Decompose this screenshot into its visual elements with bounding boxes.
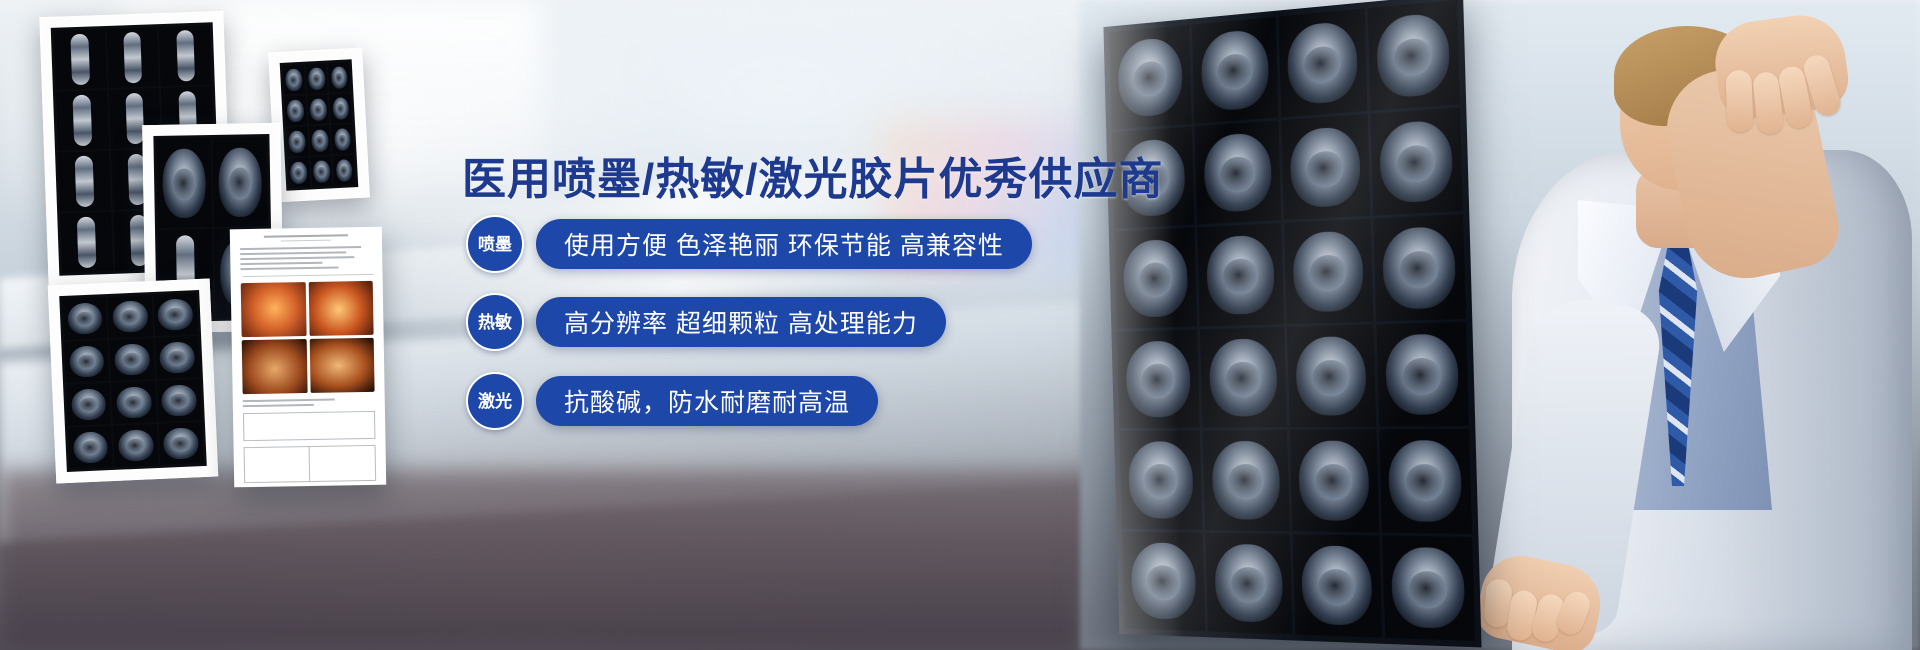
badge-laser: 激光 (466, 372, 524, 430)
feature-row-thermal: 热敏 高分辨率 超细颗粒 高处理能力 (466, 293, 946, 351)
page-title: 医用喷墨/热敏/激光胶片优秀供应商 (462, 143, 1163, 207)
badge-thermal: 热敏 (466, 293, 524, 351)
badge-inkjet: 喷墨 (466, 215, 524, 273)
banner-content: 医用喷墨/热敏/激光胶片优秀供应商 喷墨 使用方便 色泽艳丽 环保节能 高兼容性… (0, 0, 1920, 650)
feature-text-thermal: 高分辨率 超细颗粒 高处理能力 (536, 297, 946, 347)
feature-text-laser: 抗酸碱，防水耐磨耐高温 (536, 376, 878, 426)
hero-banner: 医用喷墨/热敏/激光胶片优秀供应商 喷墨 使用方便 色泽艳丽 环保节能 高兼容性… (0, 0, 1920, 650)
feature-text-inkjet: 使用方便 色泽艳丽 环保节能 高兼容性 (536, 219, 1032, 269)
feature-row-inkjet: 喷墨 使用方便 色泽艳丽 环保节能 高兼容性 (466, 215, 1032, 273)
feature-row-laser: 激光 抗酸碱，防水耐磨耐高温 (466, 372, 878, 430)
